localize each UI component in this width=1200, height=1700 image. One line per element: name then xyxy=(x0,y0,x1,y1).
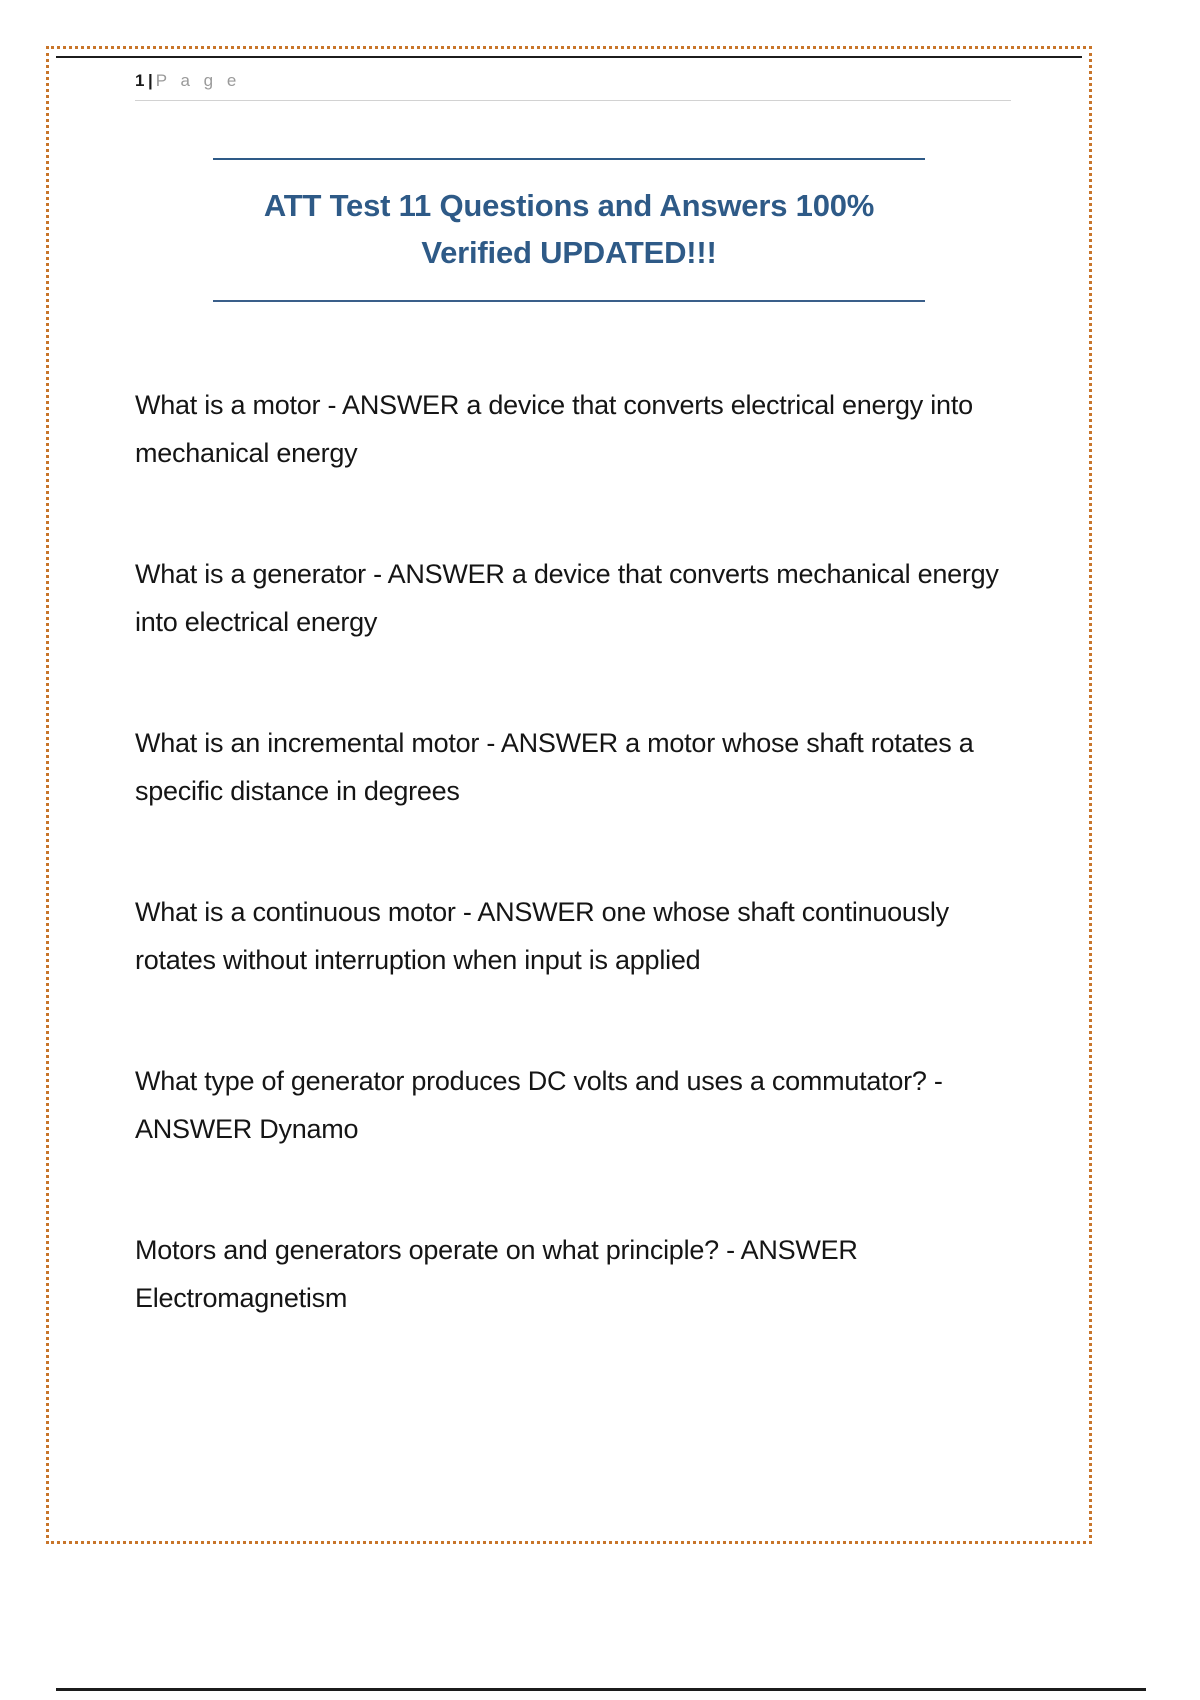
qa-item: What type of generator produces DC volts… xyxy=(135,1057,1015,1153)
qa-item: What is a generator - ANSWER a device th… xyxy=(135,550,1015,646)
qa-item: Motors and generators operate on what pr… xyxy=(135,1226,1015,1322)
page-title: ATT Test 11 Questions and Answers 100% V… xyxy=(213,160,925,300)
footer-divider-rule xyxy=(56,1688,1146,1691)
page-header-line: 1|P a g e xyxy=(135,68,1011,94)
qa-item: What is a continuous motor - ANSWER one … xyxy=(135,888,1015,984)
title-block: ATT Test 11 Questions and Answers 100% V… xyxy=(213,158,925,302)
title-rule-bottom xyxy=(213,300,925,302)
top-divider-rule xyxy=(56,56,1082,58)
page-number: 1 xyxy=(135,71,145,90)
page-header-label: P a g e xyxy=(156,71,241,90)
qa-list: What is a motor - ANSWER a device that c… xyxy=(135,381,1025,1322)
qa-item: What is a motor - ANSWER a device that c… xyxy=(135,381,1015,477)
header-divider-rule xyxy=(135,100,1011,101)
page-header: 1|P a g e xyxy=(135,68,1011,94)
qa-item: What is an incremental motor - ANSWER a … xyxy=(135,719,1015,815)
page-header-separator: | xyxy=(145,71,156,90)
document-page: 1|P a g e ATT Test 11 Questions and Answ… xyxy=(0,0,1200,1700)
